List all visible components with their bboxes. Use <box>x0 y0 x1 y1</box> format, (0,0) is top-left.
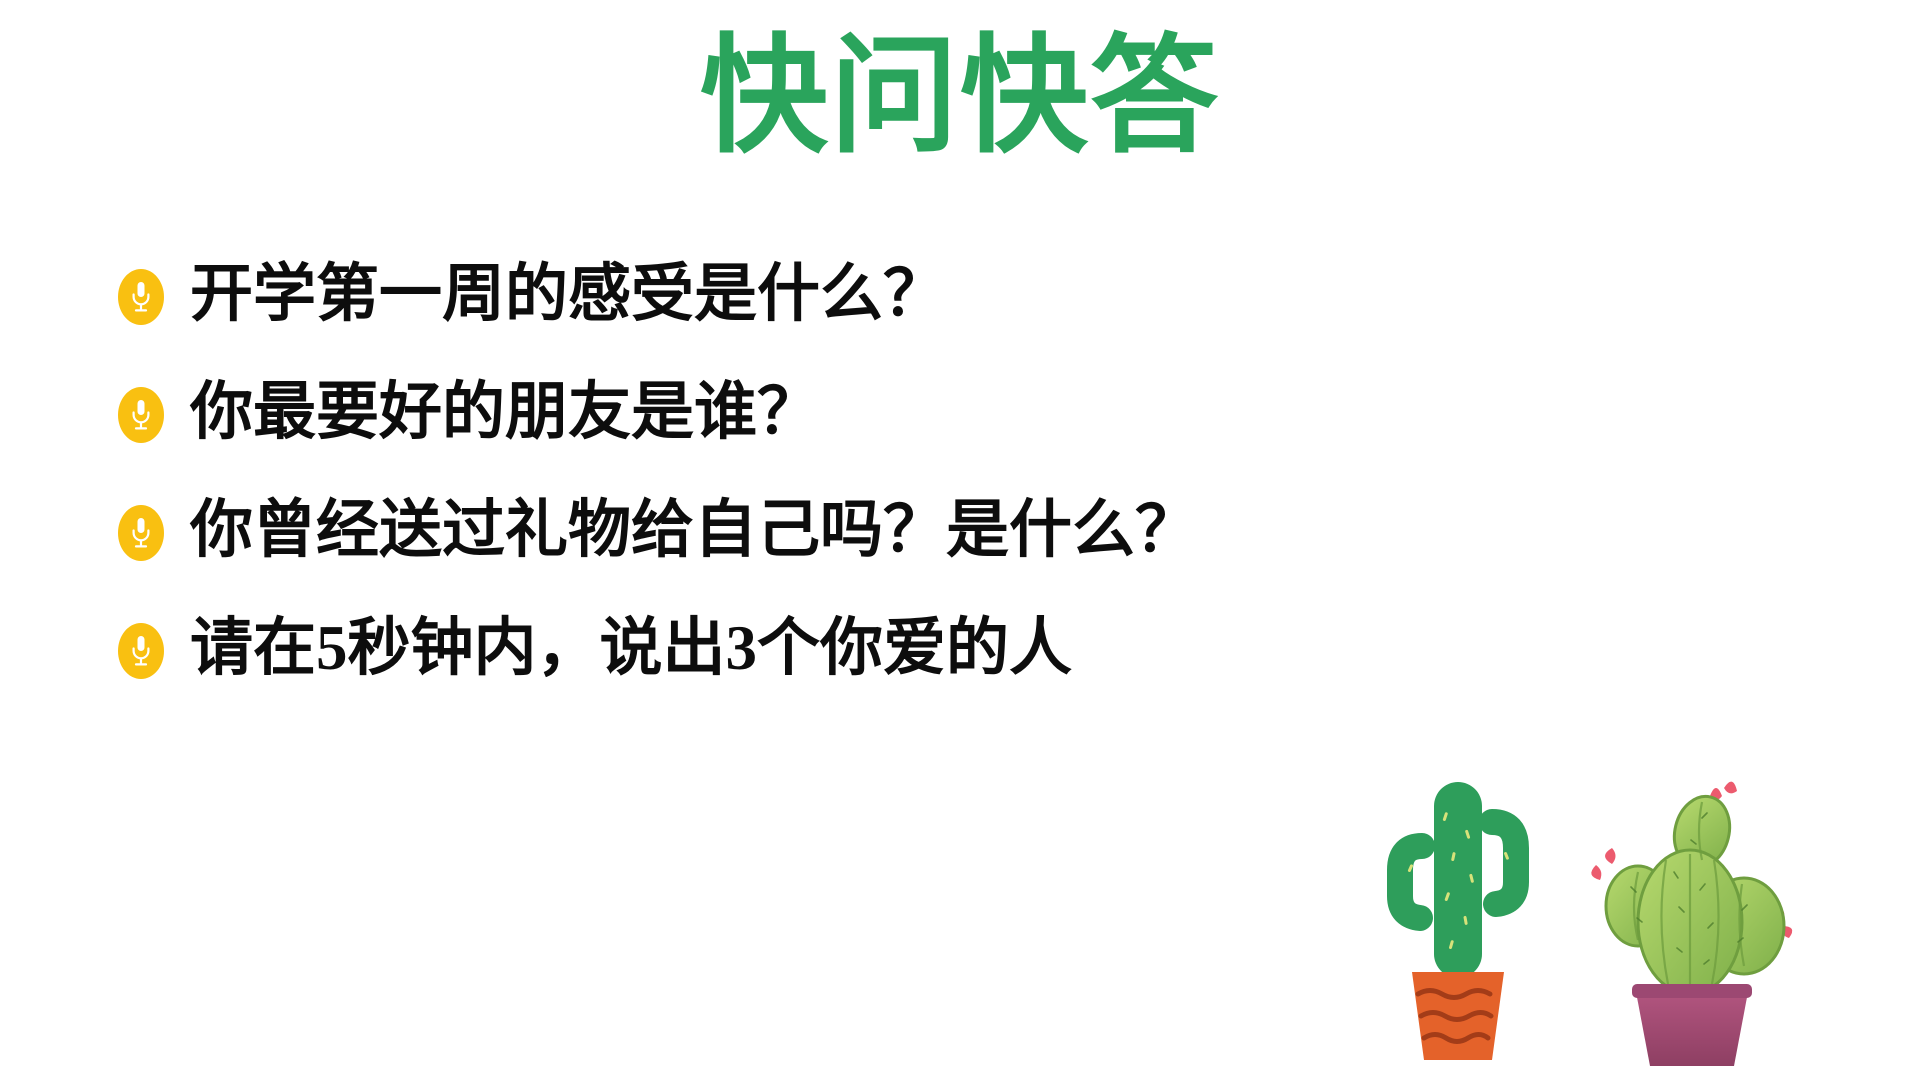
cactus-decoration-group <box>1360 760 1920 1080</box>
cactus-tall-orange-pot <box>1400 782 1516 1060</box>
list-item: 请在5秒钟内，说出3个你爱的人 <box>118 606 1618 692</box>
page-title: 快问快答 <box>0 30 1920 164</box>
list-item: 你曾经送过礼物给自己吗？是什么？ <box>118 488 1618 574</box>
microphone-icon <box>118 269 164 325</box>
list-item: 你最要好的朋友是谁？ <box>118 370 1618 456</box>
question-text: 你曾经送过礼物给自己吗？是什么？ <box>190 496 1198 565</box>
question-text: 请在5秒钟内，说出3个你爱的人 <box>190 614 1072 683</box>
microphone-icon <box>118 505 164 561</box>
question-text: 开学第一周的感受是什么？ <box>190 260 946 329</box>
microphone-icon <box>118 387 164 443</box>
question-list: 开学第一周的感受是什么？ 你最要好的朋友是谁？ <box>118 252 1618 724</box>
list-item: 开学第一周的感受是什么？ <box>118 252 1618 338</box>
microphone-icon <box>118 623 164 679</box>
question-text: 你最要好的朋友是谁？ <box>190 378 820 447</box>
cactus-round-purple-pot <box>1591 782 1792 1066</box>
slide-canvas: 快问快答 开学第一周的感受是什么？ <box>0 0 1920 1080</box>
